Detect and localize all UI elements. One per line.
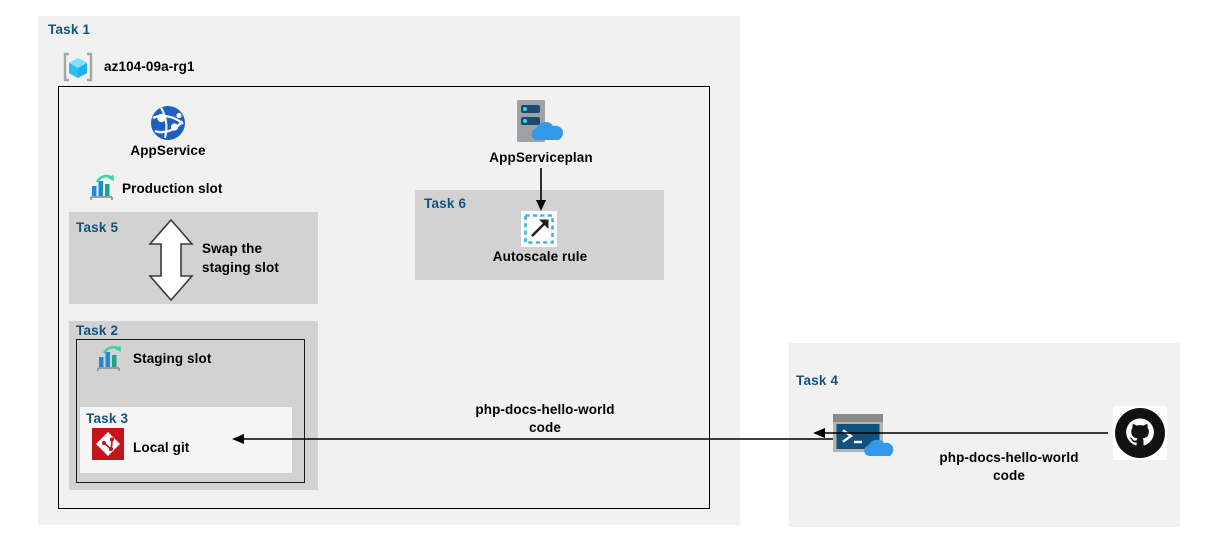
task2-label: Task 2 [76, 323, 118, 338]
autoscale-rule-label: Autoscale rule [465, 249, 615, 264]
git-icon [92, 428, 124, 460]
task4-edge-label-line1: php-docs-hello-world [905, 450, 1113, 465]
task4-label: Task 4 [796, 373, 838, 388]
staging-slot-label: Staging slot [133, 351, 211, 366]
center-edge-label-line1: php-docs-hello-world [440, 402, 650, 417]
resource-group-name: az104-09a-rg1 [104, 59, 195, 74]
task5-label: Task 5 [76, 220, 118, 235]
appserviceplan-label: AppServiceplan [460, 150, 622, 165]
github-icon [1113, 406, 1167, 460]
task1-label: Task 1 [48, 22, 90, 37]
task4-edge-label-line2: code [905, 468, 1113, 483]
deployment-slot-icon-production [88, 174, 118, 202]
center-edge-label-line2: code [440, 420, 650, 435]
autoscale-icon [521, 211, 557, 247]
task6-label: Task 6 [424, 196, 466, 211]
cloud-shell-icon [833, 414, 903, 458]
task5-caption-line1: Swap the [202, 241, 314, 258]
app-service-plan-icon [513, 98, 569, 144]
task5-caption-line2: staging slot [202, 260, 314, 277]
swap-double-arrow-icon [146, 218, 196, 302]
appservice-label: AppService [105, 143, 231, 158]
local-git-label: Local git [133, 440, 189, 455]
resource-group-icon [61, 50, 95, 84]
task3-label: Task 3 [86, 411, 128, 426]
production-slot-label: Production slot [122, 181, 223, 196]
app-service-icon [149, 104, 187, 142]
diagram-canvas: Task 1 az104-09a-rg1 AppService [0, 0, 1218, 545]
deployment-slot-icon-staging [95, 345, 125, 373]
